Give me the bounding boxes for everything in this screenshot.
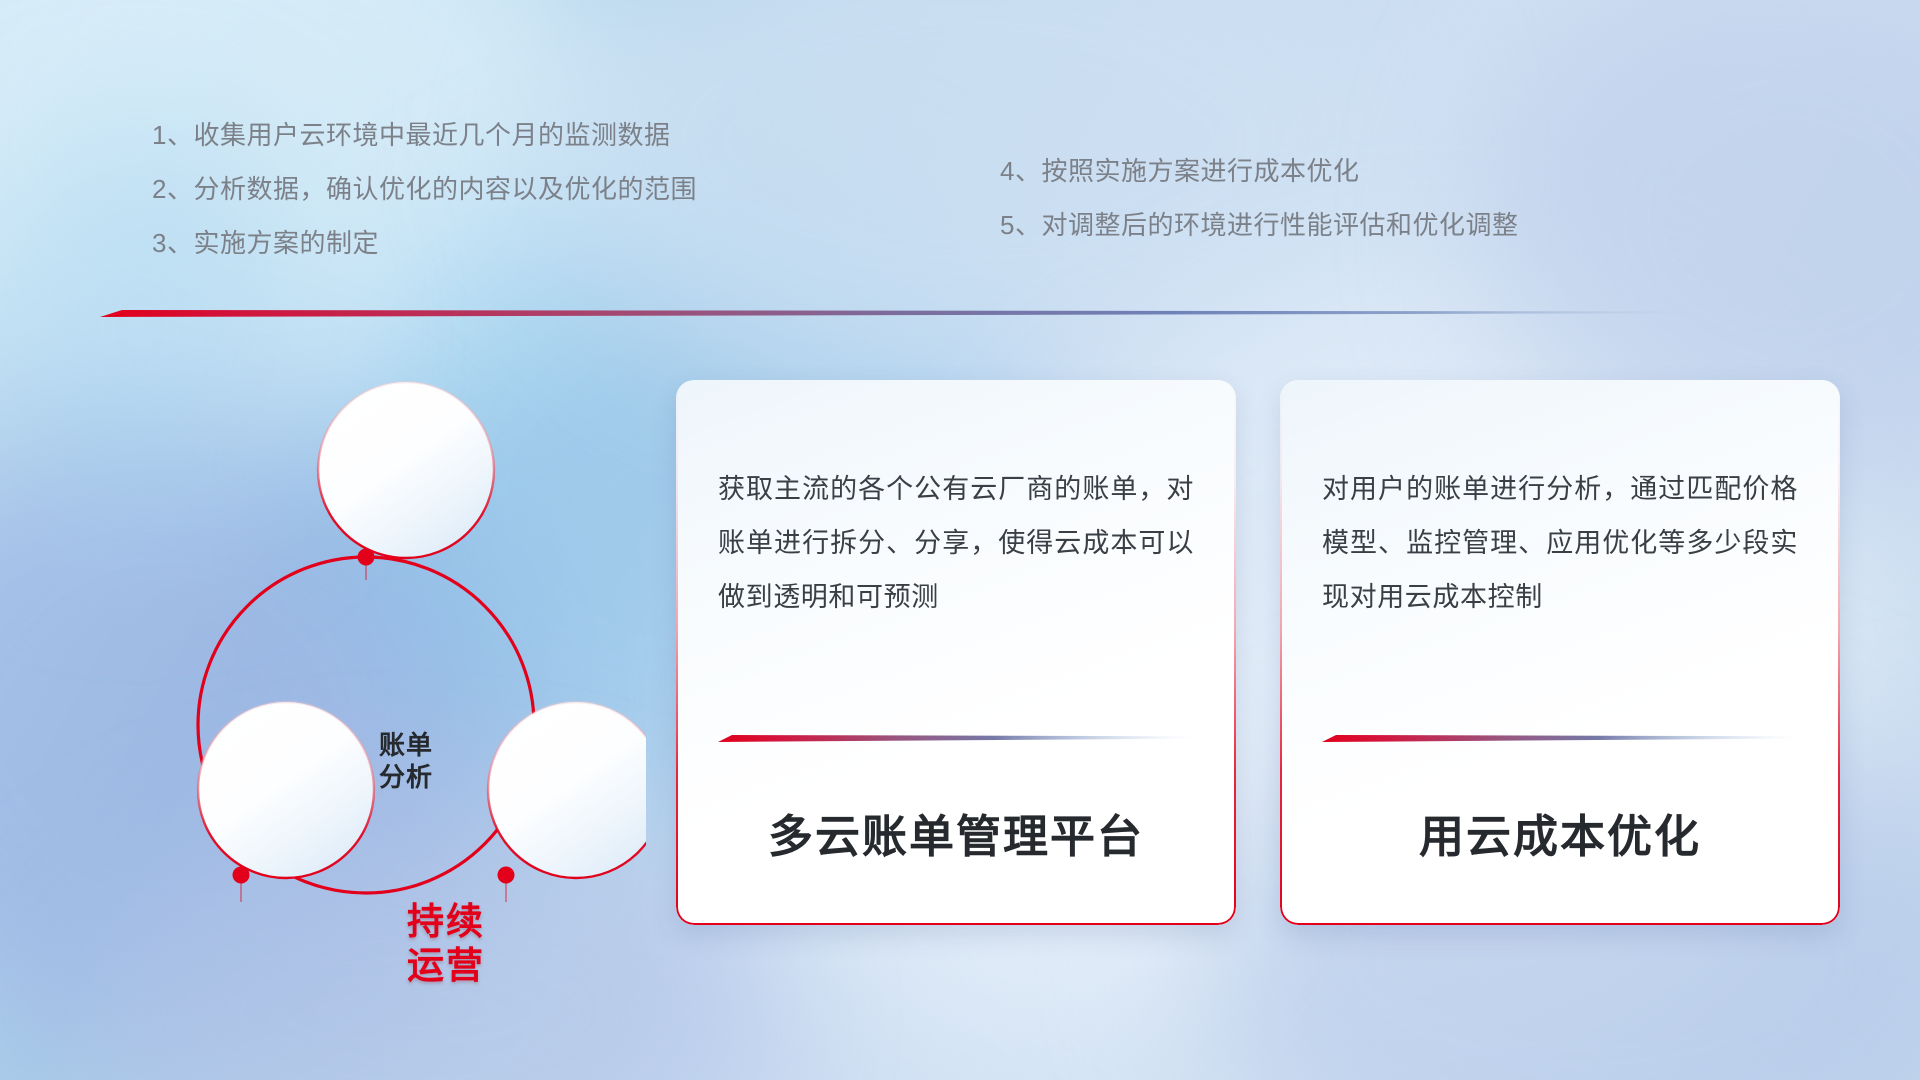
node-dot-bottom-left xyxy=(233,867,250,884)
steps-list-left: 1、收集用户云环境中最近几个月的监测数据 2、分析数据，确认优化的内容以及优化的… xyxy=(152,122,697,284)
step-item-2: 2、分析数据，确认优化的内容以及优化的范围 xyxy=(152,176,697,202)
card-divider xyxy=(1322,730,1798,746)
card-divider xyxy=(718,730,1194,746)
card-body-text: 对用户的账单进行分析，通过匹配价格模型、监控管理、应用优化等多少段实现对用云成本… xyxy=(1322,462,1798,624)
step-item-5: 5、对调整后的环境进行性能评估和优化调整 xyxy=(1000,212,1518,238)
slide-canvas: 1、收集用户云环境中最近几个月的监测数据 2、分析数据，确认优化的内容以及优化的… xyxy=(0,0,1920,1080)
feature-card-multi-cloud-billing[interactable]: 获取主流的各个公有云厂商的账单，对账单进行拆分、分享，使得云成本可以做到透明和可… xyxy=(676,380,1236,925)
step-item-3: 3、实施方案的制定 xyxy=(152,230,697,256)
continuous-operation-diagram: 账单 分析 操作 运营 优化 策略 持续 运营 xyxy=(86,330,646,940)
card-body-text: 获取主流的各个公有云厂商的账单，对账单进行拆分、分享，使得云成本可以做到透明和可… xyxy=(718,462,1194,624)
card-title: 用云成本优化 xyxy=(1280,800,1840,865)
step-item-1: 1、收集用户云环境中最近几个月的监测数据 xyxy=(152,122,697,148)
feature-card-cloud-cost-optimization[interactable]: 对用户的账单进行分析，通过匹配价格模型、监控管理、应用优化等多少段实现对用云成本… xyxy=(1280,380,1840,925)
node-dot-top xyxy=(358,549,375,566)
venn-center-label: 持续 运营 xyxy=(346,900,546,989)
venn-svg xyxy=(86,330,646,940)
node-dot-bottom-right xyxy=(498,867,515,884)
step-item-4: 4、按照实施方案进行成本优化 xyxy=(1000,158,1518,184)
venn-label-top: 账单 分析 xyxy=(326,730,486,793)
venn-circle-bottom-right xyxy=(488,702,646,878)
venn-circle-top xyxy=(318,382,494,558)
section-divider xyxy=(100,300,1720,324)
card-title: 多云账单管理平台 xyxy=(676,800,1236,865)
steps-list-right: 4、按照实施方案进行成本优化 5、对调整后的环境进行性能评估和优化调整 xyxy=(1000,158,1518,266)
